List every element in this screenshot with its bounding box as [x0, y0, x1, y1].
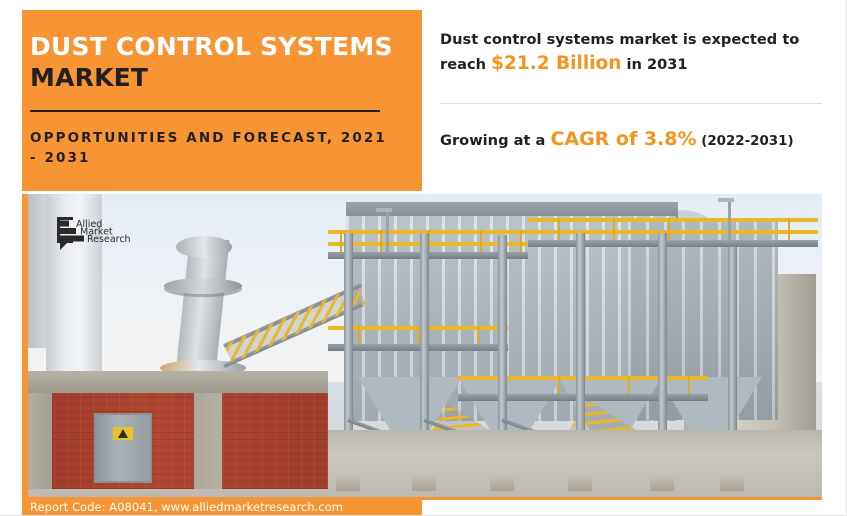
walkway-platform [328, 344, 508, 351]
cagr-statement: Growing at a CAGR of 3.8% (2022-2031) [440, 128, 822, 150]
railing-post [480, 230, 482, 252]
brick-coping [28, 371, 328, 393]
railing-post [688, 376, 690, 394]
page-title: DUST CONTROL SYSTEMS MARKET [30, 32, 400, 93]
svg-text:Research: Research [87, 234, 131, 245]
railing-post [558, 376, 560, 394]
railing-post [628, 376, 630, 394]
market-value-suffix: in 2031 [621, 56, 687, 73]
page-subtitle: OPPORTUNITIES AND FORECAST, 2021 - 2031 [30, 128, 400, 169]
column-footing [336, 473, 360, 491]
column-footing [720, 473, 744, 491]
stack-cap [176, 236, 232, 258]
market-value-statement: Dust control systems market is expected … [440, 30, 822, 77]
railing-post [358, 326, 360, 344]
railing-post [478, 326, 480, 344]
stats-divider [440, 103, 822, 104]
lamp-head [376, 208, 392, 212]
warning-sign-icon [113, 427, 133, 440]
walkway-railing [528, 230, 818, 234]
cagr-prefix: Growing at a [440, 132, 550, 149]
industrial-plant-photo: Allied Market Research [28, 194, 822, 497]
header-panel: DUST CONTROL SYSTEMS MARKET OPPORTUNITIE… [22, 10, 422, 191]
title-divider [30, 110, 380, 112]
railing-post [340, 230, 342, 252]
railing-post [668, 218, 670, 240]
cagr-value: CAGR of 3.8% [550, 128, 696, 150]
lamp-pole [728, 200, 731, 240]
stack-flange-upper [164, 278, 242, 294]
column-footing [490, 473, 514, 491]
market-value-amount: $21.2 Billion [491, 53, 621, 74]
lamp-head [718, 198, 734, 202]
railing-post [380, 230, 382, 252]
railing-post [520, 230, 522, 252]
railing-post [558, 218, 560, 240]
stats-panel: Dust control systems market is expected … [440, 30, 822, 150]
title-primary: DUST CONTROL SYSTEMS [30, 32, 393, 61]
lamp-pole [386, 210, 389, 254]
railing-post [788, 218, 790, 240]
factory-door [94, 413, 152, 483]
report-caption-bar: Report Code: A08041, www.alliedmarketres… [22, 497, 422, 516]
allied-market-research-logo: Allied Market Research [56, 216, 138, 256]
infographic-card: DUST CONTROL SYSTEMS MARKET OPPORTUNITIE… [0, 0, 847, 516]
railing-post [613, 218, 615, 240]
column-footing [568, 473, 592, 491]
logo-svg: Allied Market Research [56, 216, 138, 256]
brick-building [28, 371, 328, 489]
photo-frame: Allied Market Research [22, 194, 822, 500]
column-footing [412, 473, 436, 491]
cagr-period: (2022-2031) [697, 134, 794, 149]
walkway-platform [528, 240, 818, 247]
title-secondary: MARKET [30, 63, 148, 92]
report-code-text: Report Code: A08041, www.alliedmarketres… [30, 500, 343, 514]
column-footing [650, 473, 674, 491]
walkway-railing [528, 218, 818, 222]
